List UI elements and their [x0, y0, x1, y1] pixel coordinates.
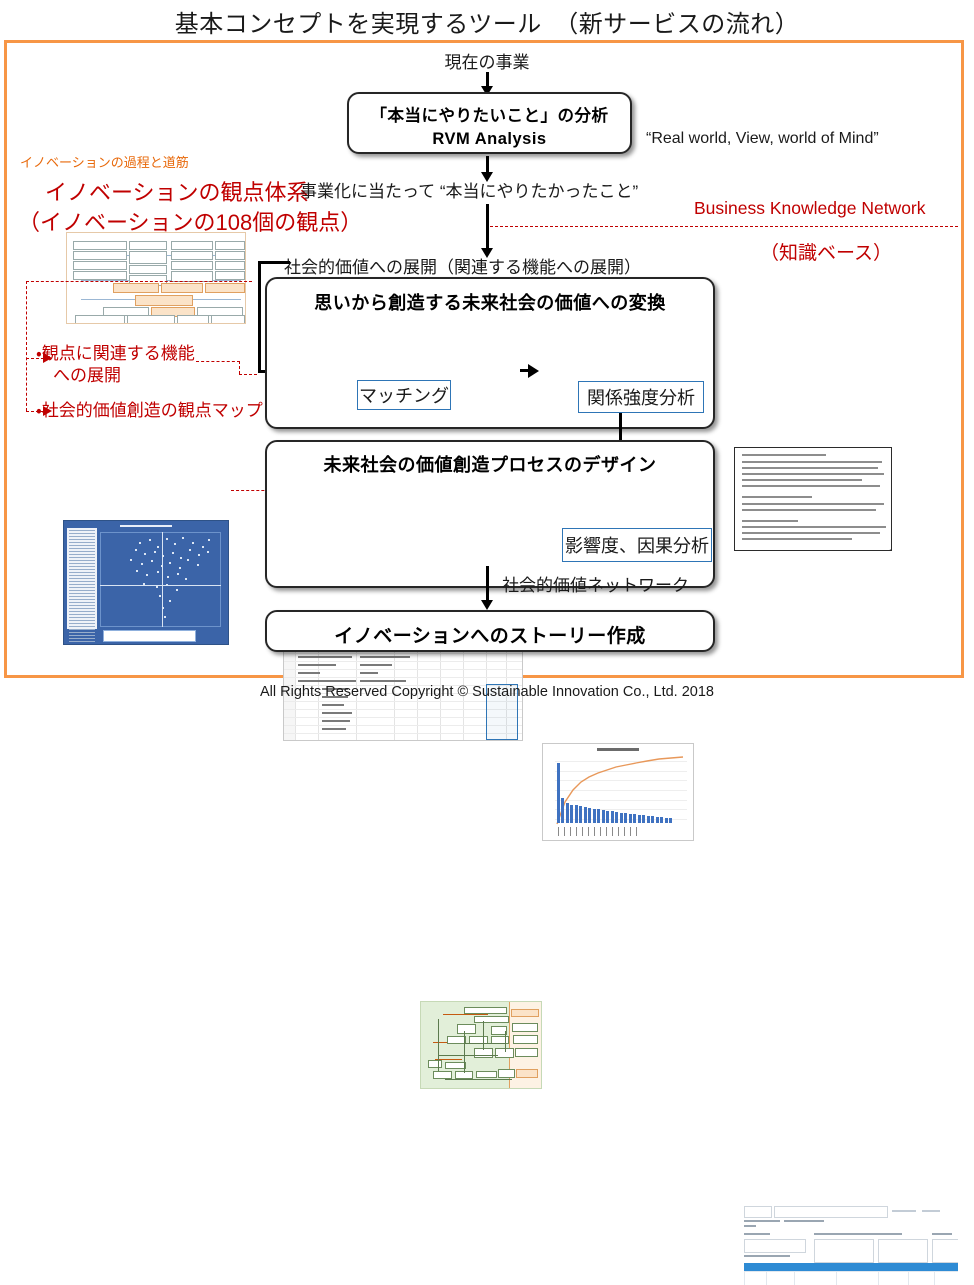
dashed-hook-vertical [239, 361, 240, 374]
knowledge-base-document-thumbnail [734, 447, 892, 551]
dashed-line-top [26, 281, 252, 282]
input-label: 現在の事業 [0, 48, 974, 73]
right-panel-subheading: （知識ベース） [760, 238, 892, 265]
between-step1-step2-label: 事業化に当たって “本当にやりたかったこと” [300, 177, 638, 202]
story-creation-form-table-thumbnail [736, 1199, 958, 1285]
bullet1-line2: への展開 [36, 361, 121, 386]
step4-box[interactable]: イノベーションへのストーリー作成 [265, 610, 715, 652]
dashed-hook-horizontal [196, 361, 240, 362]
step1-line2: RVM Analysis [349, 130, 630, 149]
connector-spreadsheet-to-chart [520, 369, 530, 372]
step1-line1: 「本当にやりたいこと」の分析 [349, 102, 630, 126]
arrow-into-step4 [481, 600, 493, 610]
tag-impact-causal-analysis[interactable]: 影響度、因果分析 [562, 528, 712, 562]
social-value-viewpoint-map-thumbnail [63, 520, 229, 645]
dashed-line-knowledge-base [490, 226, 958, 227]
left-panel-heading-line1: イノベーションの観点体系 [45, 175, 309, 207]
connector-step3-to-step4 [486, 566, 489, 602]
dashed-hook-horizontal2 [239, 374, 257, 375]
step4-title: イノベーションへのストーリー作成 [267, 621, 713, 648]
bullet2: ・社会的価値創造の観点マップ [36, 396, 263, 421]
dashed-line-vertical [26, 281, 27, 411]
page-title: 基本コンセプトを実現するツール （新サービスの流れ） [0, 4, 974, 39]
innovation-viewpoint-hierarchy-thumbnail [66, 232, 246, 324]
between-step2-label: 社会的価値への展開（関連する機能への展開） [284, 253, 641, 278]
connector-hook-top [258, 261, 290, 264]
relationship-strength-pareto-chart-thumbnail [542, 743, 694, 841]
step1-box[interactable]: 「本当にやりたいこと」の分析 RVM Analysis [347, 92, 632, 154]
right-panel-heading: Business Knowledge Network [694, 198, 926, 219]
connector-step2-in [486, 204, 489, 250]
step1-note: “Real world, View, world of Mind” [646, 130, 879, 148]
step3-caption: 社会的価値ネットワーク [502, 571, 689, 596]
tag-relationship-strength[interactable]: 関係強度分析 [578, 381, 704, 413]
connector-hook-vertical [258, 261, 261, 373]
value-creation-process-diagram-thumbnail [420, 1001, 542, 1089]
step3-title: 未来社会の価値創造プロセスのデザイン [267, 451, 713, 477]
left-panel-kicker: イノベーションの過程と道筋 [20, 152, 189, 171]
tag-matching[interactable]: マッチング [357, 380, 451, 410]
step3-box[interactable]: 未来社会の価値創造プロセスのデザイン [265, 440, 715, 588]
step2-title: 思いから創造する未来社会の価値への変換 [267, 289, 713, 315]
footer-copyright: All Rights Reserved Copyright © Sustaina… [0, 684, 974, 700]
